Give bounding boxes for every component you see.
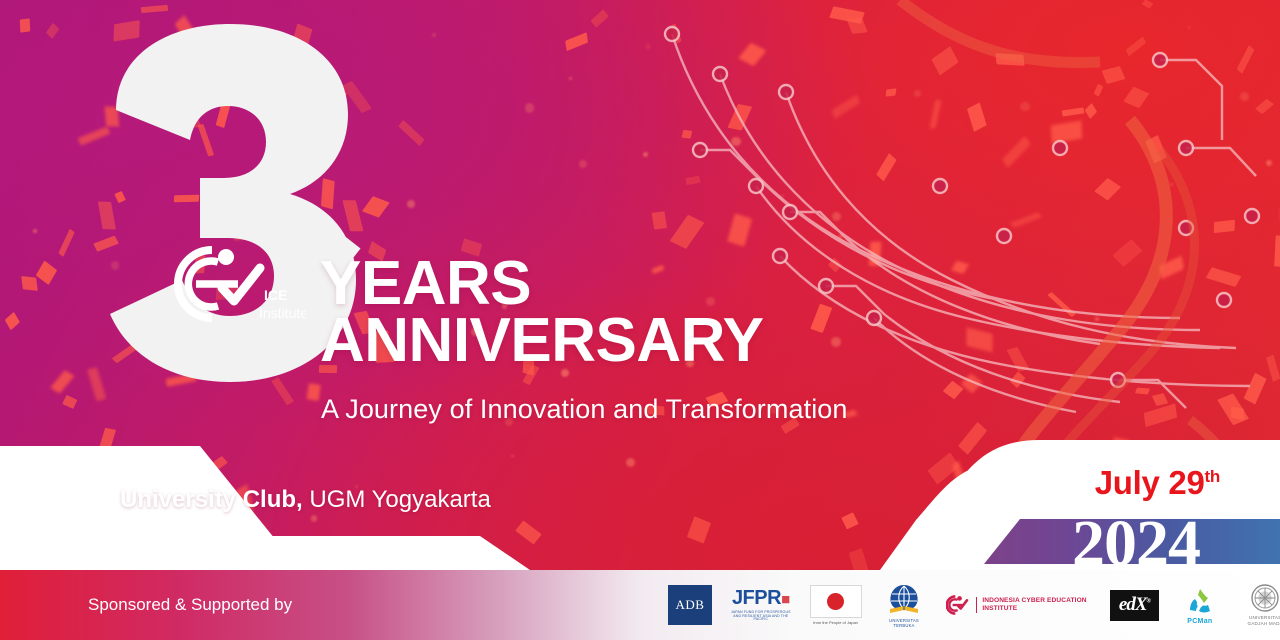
venue-name: University Club, <box>120 486 303 513</box>
japan-flag-subtitle: from the People of Japan <box>810 620 862 625</box>
jfpr-logo-subtitle: JAPAN FUND FOR PROSPEROUS AND RESILIENT … <box>730 611 792 622</box>
edx-logo: edX® <box>1110 590 1159 621</box>
japan-flag-icon <box>810 585 862 618</box>
event-date: July 29th <box>1095 464 1220 502</box>
sponsor-footer: Sponsored & Supported by ADB JFPR■ JAPAN… <box>0 570 1280 640</box>
universitas-gadjah-mada-subtitle: UNIVERSITAS GADJAH MADA <box>1241 615 1280 627</box>
sponsor-label: Sponsored & Supported by <box>88 595 292 615</box>
pcman-logo-text: PCMan <box>1183 618 1217 625</box>
anniversary-banner: ICE Institute YEARS ANNIVERSARY A Journe… <box>0 0 1280 640</box>
venue-detail: UGM Yogyakarta <box>303 486 491 513</box>
indonesia-cyber-education-institute-logo: INDONESIA CYBER EDUCATION INSTITUTE <box>946 590 1091 620</box>
location-pin-icon <box>80 482 106 518</box>
universitas-terbuka-logo: UNIVERSITAS TERBUKA <box>880 582 929 628</box>
japan-flag-logo: from the People of Japan <box>810 585 862 625</box>
event-date-ordinal: th <box>1205 467 1220 486</box>
event-year: 2024 <box>1072 519 1200 564</box>
venue-info: University Club, UGM Yogyakarta <box>80 482 491 518</box>
adb-logo-text: ADB <box>676 597 705 613</box>
indonesia-cyber-education-institute-text: INDONESIA CYBER EDUCATION INSTITUTE <box>976 597 1092 613</box>
universitas-gadjah-mada-logo: UNIVERSITAS GADJAH MADA <box>1241 583 1280 627</box>
adb-logo: ADB <box>668 585 712 625</box>
edx-logo-text: edX <box>1119 594 1147 615</box>
jfpr-logo: JFPR■ JAPAN FUND FOR PROSPEROUS AND RESI… <box>730 588 792 622</box>
pcman-logo: PCMan <box>1177 586 1223 625</box>
universitas-terbuka-subtitle: UNIVERSITAS TERBUKA <box>880 618 929 628</box>
sponsor-logo-strip: ADB JFPR■ JAPAN FUND FOR PROSPEROUS AND … <box>668 570 1280 640</box>
event-date-day: July 29 <box>1095 464 1205 501</box>
event-year-block: 2024 <box>984 519 1280 564</box>
jfpr-logo-text: JFPR <box>732 587 781 609</box>
